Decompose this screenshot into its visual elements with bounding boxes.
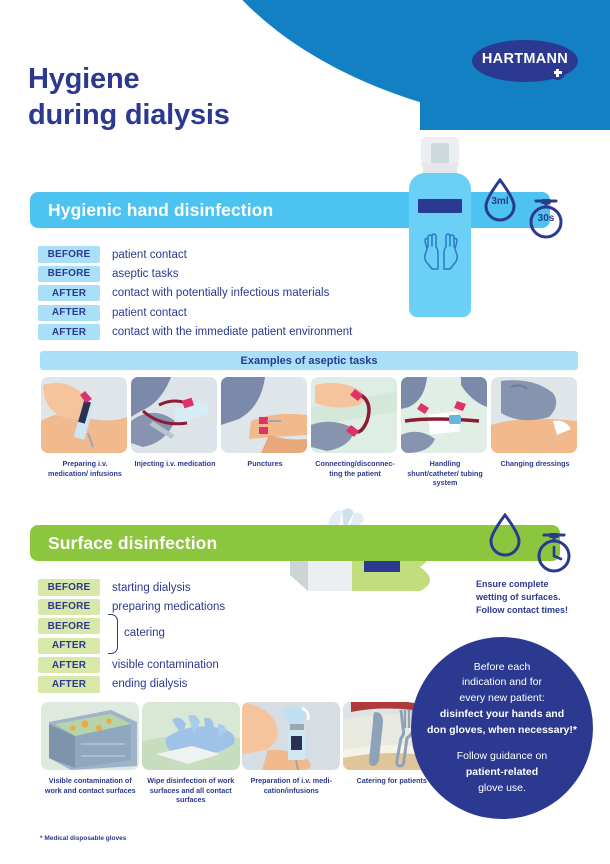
two-hands-icon [421, 229, 461, 271]
list-item: AFTER patient contact [38, 304, 352, 321]
surface-section-header: Surface disinfection [30, 525, 435, 561]
list-item-label: visible contamination [112, 659, 219, 671]
status-badge: AFTER [38, 324, 100, 340]
status-badge: BEFORE [38, 599, 100, 615]
status-badge: AFTER [38, 657, 100, 673]
list-item-label: Preparation of i.v. medi- cation/infusio… [242, 776, 341, 795]
list-item-label: Changing dressings [491, 459, 579, 469]
callout-line4: disinfect your hands and [440, 707, 564, 723]
list-item-label: preparing medications [112, 601, 225, 613]
surface-note-line1: Ensure complete [476, 578, 596, 591]
hand-section-header: Hygienic hand disinfection [30, 192, 435, 228]
status-badge: BEFORE [38, 579, 100, 595]
surface-examples-row: Visible contamination of work and contac… [41, 702, 441, 805]
list-item-label: Punctures [221, 459, 309, 469]
aseptic-examples-row: Preparing i.v. medication/ infusions Inj… [41, 377, 579, 488]
list-item-label: ending dialysis [112, 678, 187, 690]
surface-stopwatch-icon-wrap [532, 528, 576, 574]
shunt-handling-photo [401, 377, 487, 453]
status-badge: BEFORE [38, 618, 100, 634]
list-item: AFTER [38, 637, 225, 654]
callout-line3: every new patient: [459, 691, 544, 707]
dose-badge-label: 3ml [482, 196, 518, 207]
aseptic-examples-heading: Examples of aseptic tasks [241, 355, 378, 367]
list-item-label: patient contact [112, 307, 187, 319]
list-item: BEFORE aseptic tasks [38, 265, 352, 282]
list-item-label: Wipe disinfection of work surfaces and a… [142, 776, 241, 805]
status-badge: BEFORE [38, 266, 100, 282]
callout-line2: indication and for [462, 675, 542, 691]
list-item-label: starting dialysis [112, 582, 191, 594]
bottle-cap-detail [431, 143, 449, 165]
stopwatch-icon [532, 528, 576, 574]
plus-icon [550, 65, 565, 80]
status-badge: BEFORE [38, 246, 100, 262]
water-drop-icon [487, 513, 523, 559]
time-badge: 30s [524, 194, 568, 240]
list-item: BEFORE preparing medications [38, 598, 225, 615]
status-badge: AFTER [38, 285, 100, 301]
list-item: AFTER ending dialysis [38, 676, 225, 693]
surface-note-line3: Follow contact times! [476, 604, 596, 617]
changing-dressings-photo [491, 377, 577, 453]
list-item-label: contact with potentially infectious mate… [112, 287, 329, 299]
list-item: Visible contamination of work and contac… [41, 702, 140, 805]
page-title: Hygiene during dialysis [28, 62, 230, 134]
callout-line5: don gloves, when necessary!* [427, 723, 577, 739]
hand-indication-list: BEFORE patient contact BEFORE aseptic ta… [38, 246, 352, 343]
catering-brace [108, 614, 118, 654]
contaminated-surface-photo [41, 702, 139, 770]
list-item: Handling shunt/catheter/ tubing system [401, 377, 489, 488]
bottle-label [418, 199, 462, 213]
hand-section-heading: Hygienic hand disinfection [30, 200, 273, 221]
list-item: Punctures [221, 377, 309, 488]
glove-guidance-callout: Before each indication and for every new… [411, 637, 593, 819]
catering-label: catering [124, 627, 165, 639]
surface-section-heading: Surface disinfection [30, 533, 217, 554]
list-item-label: Preparing i.v. medication/ infusions [41, 459, 129, 478]
hartmann-logo-text: HARTMANN [482, 51, 568, 67]
hand-sanitizer-bottle-icon [409, 137, 471, 317]
infographic-page: HARTMANN Hygiene during dialysis Hygieni… [0, 0, 610, 864]
list-item: Changing dressings [491, 377, 579, 488]
page-title-line1: Hygiene [28, 62, 230, 98]
wipe-disinfection-photo [142, 702, 240, 770]
footnote: * Medical disposable gloves [40, 835, 126, 842]
connecting-patient-photo [311, 377, 397, 453]
list-item: BEFORE patient contact [38, 246, 352, 263]
puncture-photo [221, 377, 307, 453]
list-item-label: contact with the immediate patient envir… [112, 326, 352, 338]
callout-line8: glove use. [478, 781, 526, 797]
list-item-label: aseptic tasks [112, 268, 178, 280]
list-item: AFTER contact with potentially infectiou… [38, 285, 352, 302]
surface-drop-icon-wrap [487, 513, 523, 559]
list-item: Preparing i.v. medication/ infusions [41, 377, 129, 488]
list-item-label: Connecting/disconnec- ting the patient [311, 459, 399, 478]
list-item: AFTER visible contamination [38, 657, 225, 674]
dose-badge: 3ml [482, 178, 518, 224]
status-badge: AFTER [38, 305, 100, 321]
callout-line1: Before each [474, 660, 531, 676]
list-item: Connecting/disconnec- ting the patient [311, 377, 399, 488]
list-item-label: Visible contamination of work and contac… [41, 776, 140, 795]
list-item-label: Handling shunt/catheter/ tubing system [401, 459, 489, 488]
syringe-preparation-photo [41, 377, 127, 453]
status-badge: AFTER [38, 676, 100, 692]
list-item: BEFORE starting dialysis [38, 579, 225, 596]
time-badge-label: 30s [524, 213, 568, 224]
surface-note-line2: wetting of surfaces. [476, 591, 596, 604]
iv-preparation-photo [242, 702, 340, 770]
page-title-line2: during dialysis [28, 98, 230, 134]
list-item: Injecting i.v. medication [131, 377, 219, 488]
callout-line7: patient-related [466, 765, 538, 781]
status-badge: AFTER [38, 638, 100, 654]
surface-note: Ensure complete wetting of surfaces. Fol… [476, 578, 596, 617]
list-item-label: Injecting i.v. medication [131, 459, 219, 469]
hartmann-logo: HARTMANN [472, 40, 578, 82]
list-item: AFTER contact with the immediate patient… [38, 324, 352, 341]
aseptic-examples-header: Examples of aseptic tasks [40, 351, 578, 370]
iv-injection-photo [131, 377, 217, 453]
callout-line6: Follow guidance on [457, 749, 547, 765]
list-item: Preparation of i.v. medi- cation/infusio… [242, 702, 341, 805]
list-item: Wipe disinfection of work surfaces and a… [142, 702, 241, 805]
list-item-label: patient contact [112, 249, 187, 261]
